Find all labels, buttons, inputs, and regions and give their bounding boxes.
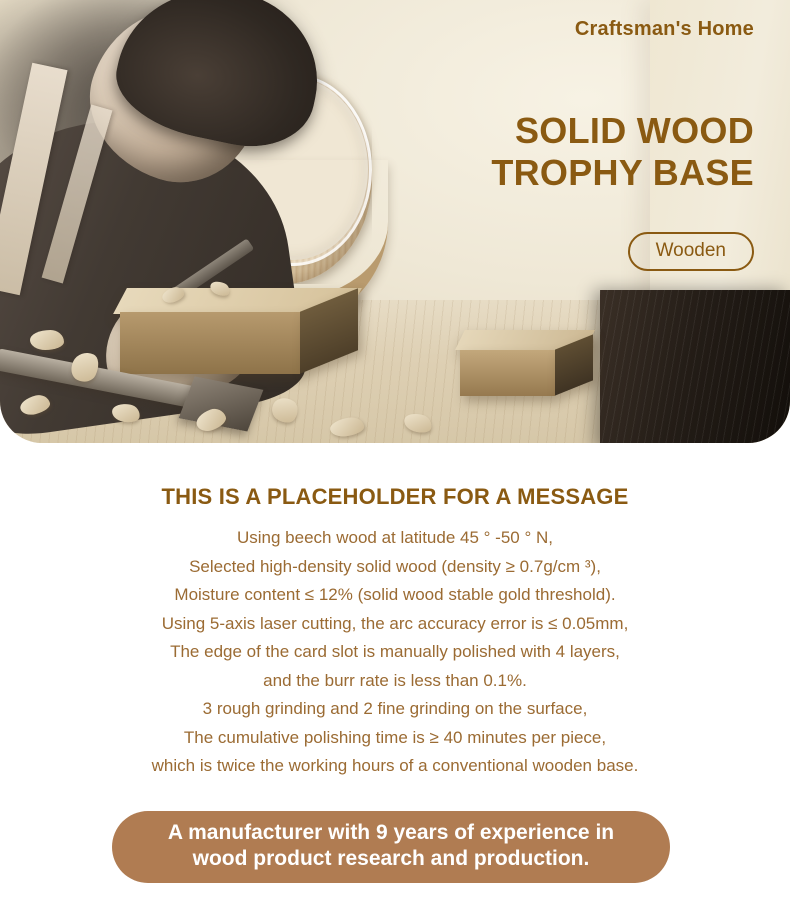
spec-line: and the burr rate is less than 0.1%. — [0, 667, 790, 696]
spec-line: The edge of the card slot is manually po… — [0, 638, 790, 667]
spec-line: Using 5-axis laser cutting, the arc accu… — [0, 610, 790, 639]
spec-line: Moisture content ≤ 12% (solid wood stabl… — [0, 581, 790, 610]
spec-line: Selected high-density solid wood (densit… — [0, 553, 790, 582]
experience-banner-line2: wood product research and production. — [132, 846, 650, 872]
brand-label: Craftsman's Home — [575, 18, 754, 41]
spec-list: Using beech wood at latitude 45 ° -50 ° … — [0, 524, 790, 781]
hero-banner: Craftsman's Home SOLID WOOD TROPHY BASE … — [0, 0, 790, 443]
hero-illustration — [0, 0, 790, 443]
experience-banner: A manufacturer with 9 years of experienc… — [112, 811, 670, 883]
page-title-line2: TROPHY BASE — [491, 152, 754, 194]
material-badge[interactable]: Wooden — [628, 232, 754, 271]
spec-line: 3 rough grinding and 2 fine grinding on … — [0, 695, 790, 724]
wood-shaving — [30, 330, 64, 350]
wood-block-front — [120, 312, 300, 374]
page-title: SOLID WOOD TROPHY BASE — [491, 110, 754, 195]
dark-wood-plank — [600, 290, 790, 443]
spec-line: The cumulative polishing time is ≥ 40 mi… — [0, 724, 790, 753]
plank-grain — [600, 290, 790, 443]
spec-line: which is twice the working hours of a co… — [0, 752, 790, 781]
experience-banner-line1: A manufacturer with 9 years of experienc… — [132, 820, 650, 846]
page-title-line1: SOLID WOOD — [515, 110, 754, 151]
spec-line: Using beech wood at latitude 45 ° -50 ° … — [0, 524, 790, 553]
message-heading: THIS IS A PLACEHOLDER FOR A MESSAGE — [0, 484, 790, 510]
wood-block2-front — [460, 350, 555, 396]
